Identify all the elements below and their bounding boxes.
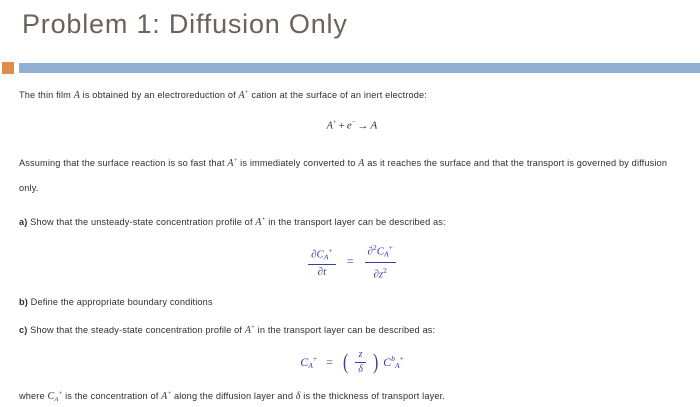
- steady-lhs-C: CA+: [300, 354, 317, 370]
- item-b-label: b): [19, 297, 28, 307]
- pde-lhs-denominator: ∂t: [308, 265, 336, 279]
- reaction-plus: +: [337, 120, 347, 132]
- pde-rhs-charge: +: [389, 243, 393, 252]
- steady-equals-sign: =: [321, 355, 338, 370]
- pde-lhs-numerator: ∂CA+: [308, 244, 336, 266]
- steady-fraction: z δ: [355, 349, 366, 376]
- intro-text-3: cation at the surface of an inert electr…: [249, 90, 427, 100]
- reaction-product: A: [370, 120, 377, 132]
- intro-text-1: The thin film: [19, 90, 74, 100]
- equation-reaction-row: A++e−→A: [19, 116, 685, 134]
- list-item-b: b) Define the appropriate boundary condi…: [19, 295, 685, 309]
- closing-text-2: is the concentration of: [62, 391, 161, 401]
- closing-text-1: where: [19, 391, 47, 401]
- pde-rhs-numerator: ∂2CA+: [365, 241, 396, 263]
- equation-steady-state: CA+ = ( z δ ) CbA+: [300, 349, 404, 376]
- slide-canvas: Problem 1: Diffusion Only The thin film …: [0, 0, 700, 405]
- paragraph-assumption: Assuming that the surface reaction is so…: [19, 148, 685, 201]
- pde-lhs-num-dC: ∂C: [311, 248, 324, 260]
- equation-steady-row: CA+ = ( z δ ) CbA+: [19, 349, 685, 376]
- divider-blue-bar: [19, 63, 700, 73]
- pde-rhs-denominator: ∂z2: [365, 263, 396, 282]
- paragraph-intro: The thin film A is obtained by an electr…: [19, 86, 685, 103]
- item-a-text-2: in the transport layer can be described …: [266, 217, 446, 227]
- steady-frac-numerator: z: [355, 349, 366, 363]
- item-c-text-2: in the transport layer can be described …: [255, 325, 435, 335]
- pde-lhs-num-charge: +: [329, 246, 333, 255]
- steady-paren-close: ): [373, 351, 378, 373]
- item-a-text-1: Show that the unsteady-state concentrati…: [27, 217, 255, 227]
- steady-rhs-C: CbA+: [383, 354, 404, 370]
- pde-rhs-C: C: [377, 246, 384, 258]
- pde-rhs-den-dz: ∂z: [373, 269, 383, 281]
- pde-lhs-fraction: ∂CA+ ∂t: [308, 244, 336, 280]
- pde-rhs-den-order: 2: [383, 266, 387, 275]
- assume-text-2: is immediately converted to: [237, 158, 358, 168]
- closing-text-3: along the diffusion layer and: [171, 391, 296, 401]
- list-item-c: c) Show that the steady-state concentrat…: [19, 321, 685, 338]
- paragraph-closing: where CA+ is the concentration of A+ alo…: [19, 387, 685, 407]
- title-divider: [0, 62, 700, 74]
- equation-reaction: A++e−→A: [327, 119, 377, 132]
- intro-text-2: is obtained by an electroreduction of: [80, 90, 239, 100]
- assume-text-1: Assuming that the surface reaction is so…: [19, 158, 227, 168]
- page-title: Problem 1: Diffusion Only: [22, 9, 348, 40]
- steady-paren-open: (: [343, 351, 348, 373]
- pde-equals-sign: =: [342, 254, 359, 269]
- steady-rhs-charge: +: [400, 354, 404, 363]
- item-c-text-1: Show that the steady-state concentration…: [27, 325, 244, 335]
- equation-pde: ∂CA+ ∂t = ∂2CA+ ∂z2: [306, 241, 398, 281]
- item-b-text: Define the appropriate boundary conditio…: [28, 297, 213, 307]
- reaction-arrow: →: [355, 120, 370, 132]
- equation-pde-row: ∂CA+ ∂t = ∂2CA+ ∂z2: [19, 241, 685, 281]
- closing-math-C-sub: A: [54, 396, 58, 403]
- steady-rhs-C-glyph: C: [383, 355, 391, 369]
- steady-frac-denominator: δ: [355, 363, 366, 376]
- list-item-a: a) Show that the unsteady-state concentr…: [19, 213, 685, 230]
- slide-body: The thin film A is obtained by an electr…: [19, 86, 685, 407]
- divider-orange-square: [2, 62, 14, 74]
- closing-text-4: is the thickness of transport layer.: [301, 391, 445, 401]
- pde-rhs-fraction: ∂2CA+ ∂z2: [365, 241, 396, 281]
- steady-lhs-charge: +: [313, 354, 317, 363]
